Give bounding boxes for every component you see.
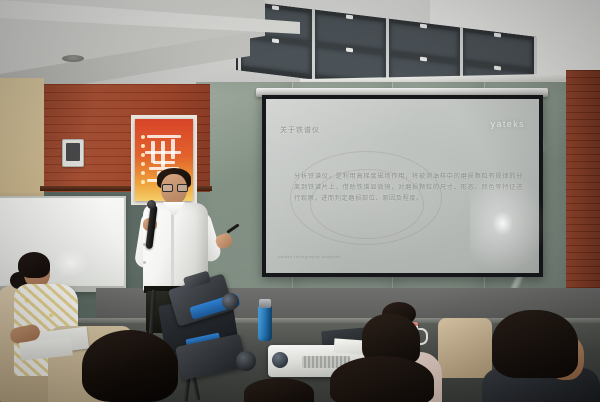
screen-glare-highlight bbox=[470, 175, 556, 285]
slide-brand-logo: yateks bbox=[491, 119, 525, 129]
whiteboard-glare bbox=[52, 248, 88, 278]
slide-footer-text: yateks ferrography analyzer bbox=[278, 254, 341, 259]
poster-dot bbox=[141, 144, 145, 148]
photo-scene: 关于铁谱仪 yateks 分析铁谱仪，是利用高梯度磁场作用，将被测油样中的磨损颗… bbox=[0, 0, 600, 402]
skylight-clip bbox=[420, 24, 427, 29]
skylight-clip bbox=[272, 5, 279, 10]
ceiling-downlight-icon bbox=[62, 55, 84, 62]
skylight-clip bbox=[494, 33, 501, 38]
poster-dot bbox=[141, 153, 145, 157]
shirt-placket bbox=[171, 212, 174, 286]
audience-front-center-head bbox=[330, 356, 434, 402]
wall-cream-left bbox=[0, 78, 44, 208]
poster-dot bbox=[141, 171, 145, 175]
seated-attendee-hair bbox=[18, 252, 50, 278]
glasses-icon bbox=[162, 184, 186, 190]
poster-dot bbox=[141, 180, 145, 184]
microphone-head-icon bbox=[147, 200, 156, 209]
skylight-clip bbox=[494, 66, 501, 71]
skylight-pane bbox=[316, 14, 384, 50]
poster-stroke bbox=[171, 139, 175, 159]
water-bottle bbox=[258, 305, 272, 341]
wood-wall-right bbox=[566, 70, 600, 320]
wall-fixture-icon bbox=[62, 139, 84, 167]
projector-lens-icon bbox=[272, 352, 288, 368]
audience-right-hair bbox=[492, 310, 578, 378]
water-bottle-cap bbox=[259, 299, 271, 308]
skylight-clip bbox=[346, 15, 353, 20]
audience-front-head bbox=[244, 378, 314, 402]
skylight-pane bbox=[242, 38, 310, 74]
poster-dot bbox=[141, 135, 145, 139]
poster-stroke bbox=[153, 161, 175, 164]
skylight-clip bbox=[420, 57, 427, 62]
audience-front-left-head bbox=[82, 330, 178, 402]
skylight-clip bbox=[346, 48, 353, 53]
skylight-mullion bbox=[312, 9, 315, 79]
chair-background bbox=[438, 318, 492, 378]
skylight-clip bbox=[272, 38, 279, 43]
poster-stroke bbox=[147, 135, 181, 138]
slide-title: 关于铁谱仪 bbox=[280, 125, 320, 135]
poster-dots bbox=[141, 135, 146, 177]
poster-dot bbox=[141, 162, 145, 166]
poster-stroke bbox=[145, 151, 181, 154]
skylight-pane bbox=[464, 32, 532, 68]
skylight-pane bbox=[390, 23, 458, 59]
camera-lens-icon bbox=[236, 351, 256, 371]
